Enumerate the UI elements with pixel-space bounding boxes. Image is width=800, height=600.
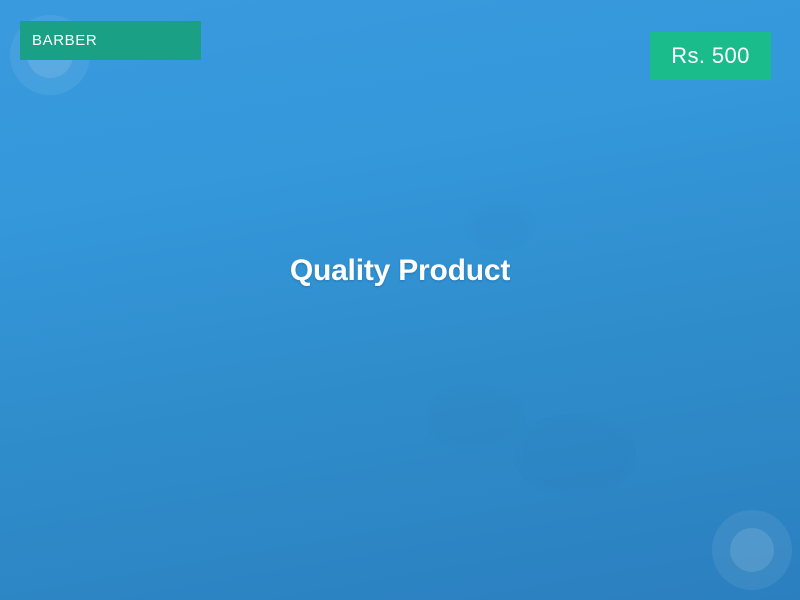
price-badge-text: Rs. 500: [671, 45, 750, 67]
circle-decoration-icon: [712, 510, 792, 590]
price-badge: Rs. 500: [650, 32, 771, 80]
circle-decoration-core-icon: [730, 528, 774, 572]
background-texture-blob: [520, 420, 630, 490]
background-texture-blob: [430, 390, 520, 445]
headline: Quality Product: [0, 251, 800, 291]
headline-text: Quality Product: [290, 254, 510, 287]
promo-banner: BARBER Rs. 500 Quality Product: [0, 0, 800, 600]
brand-label-text: BARBER: [32, 33, 97, 48]
background-texture-blob: [470, 205, 530, 245]
brand-label: BARBER: [20, 21, 201, 60]
